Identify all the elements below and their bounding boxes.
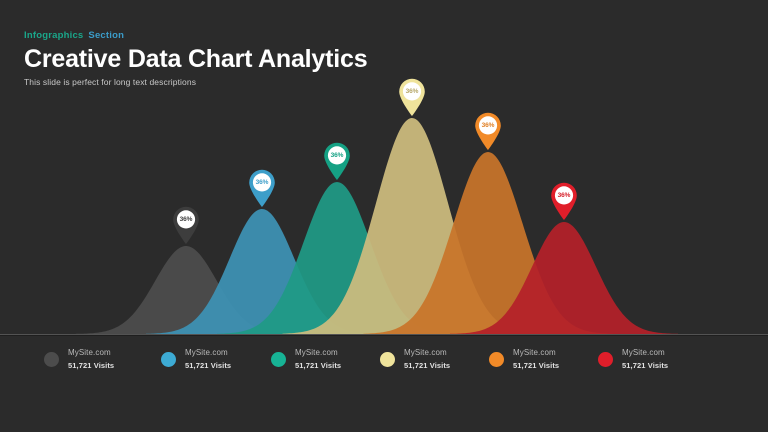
legend-dot-icon-3	[380, 352, 395, 367]
page-subtitle: This slide is perfect for long text desc…	[24, 77, 624, 88]
pin-label-2: 36%	[322, 141, 352, 170]
legend-dot-icon-4	[489, 352, 504, 367]
legend-visits-0: 51,721 Visits	[68, 360, 114, 372]
pin-marker-1[interactable]: 36%	[247, 168, 277, 208]
legend-text-3: MySite.com51,721 Visits	[404, 347, 450, 372]
legend-text-4: MySite.com51,721 Visits	[513, 347, 559, 372]
curve-paths	[76, 118, 678, 334]
pin-label-3: 36%	[397, 77, 427, 106]
legend-item-3[interactable]: MySite.com51,721 Visits	[380, 344, 450, 374]
legend-visits-2: 51,721 Visits	[295, 360, 341, 372]
chart-baseline	[0, 334, 768, 336]
legend-site-name-5: MySite.com	[622, 347, 668, 359]
pin-marker-0[interactable]: 36%	[171, 205, 201, 245]
legend-item-4[interactable]: MySite.com51,721 Visits	[489, 344, 559, 374]
legend-dot-icon-5	[598, 352, 613, 367]
legend-item-1[interactable]: MySite.com51,721 Visits	[161, 344, 231, 374]
legend-site-name-4: MySite.com	[513, 347, 559, 359]
pin-marker-4[interactable]: 36%	[473, 111, 503, 151]
pin-label-1: 36%	[247, 168, 277, 197]
pin-marker-3[interactable]: 36%	[397, 77, 427, 117]
bell-curve-chart	[0, 96, 768, 336]
slide-canvas: InfographicsSection Creative Data Chart …	[0, 0, 768, 432]
page-title: Creative Data Chart Analytics	[24, 45, 624, 73]
legend-visits-5: 51,721 Visits	[622, 360, 668, 372]
eyebrow-word-section: Section	[88, 30, 124, 41]
curves-svg	[0, 96, 768, 336]
eyebrow-label: InfographicsSection	[24, 30, 624, 42]
legend-visits-1: 51,721 Visits	[185, 360, 231, 372]
legend-visits-3: 51,721 Visits	[404, 360, 450, 372]
legend-text-1: MySite.com51,721 Visits	[185, 347, 231, 372]
legend-item-5[interactable]: MySite.com51,721 Visits	[598, 344, 668, 374]
legend-item-0[interactable]: MySite.com51,721 Visits	[44, 344, 114, 374]
pin-label-0: 36%	[171, 205, 201, 234]
legend-dot-icon-0	[44, 352, 59, 367]
legend-text-5: MySite.com51,721 Visits	[622, 347, 668, 372]
pin-label-5: 36%	[549, 181, 579, 210]
legend-item-2[interactable]: MySite.com51,721 Visits	[271, 344, 341, 374]
legend-text-2: MySite.com51,721 Visits	[295, 347, 341, 372]
legend-site-name-0: MySite.com	[68, 347, 114, 359]
pin-marker-2[interactable]: 36%	[322, 141, 352, 181]
legend-site-name-1: MySite.com	[185, 347, 231, 359]
slide-header: InfographicsSection Creative Data Chart …	[24, 30, 624, 88]
eyebrow-word-infographics: Infographics	[24, 30, 83, 41]
chart-legend: MySite.com51,721 VisitsMySite.com51,721 …	[0, 344, 768, 384]
legend-site-name-2: MySite.com	[295, 347, 341, 359]
legend-text-0: MySite.com51,721 Visits	[68, 347, 114, 372]
pin-marker-5[interactable]: 36%	[549, 181, 579, 221]
legend-dot-icon-1	[161, 352, 176, 367]
pin-label-4: 36%	[473, 111, 503, 140]
legend-dot-icon-2	[271, 352, 286, 367]
legend-visits-4: 51,721 Visits	[513, 360, 559, 372]
legend-site-name-3: MySite.com	[404, 347, 450, 359]
